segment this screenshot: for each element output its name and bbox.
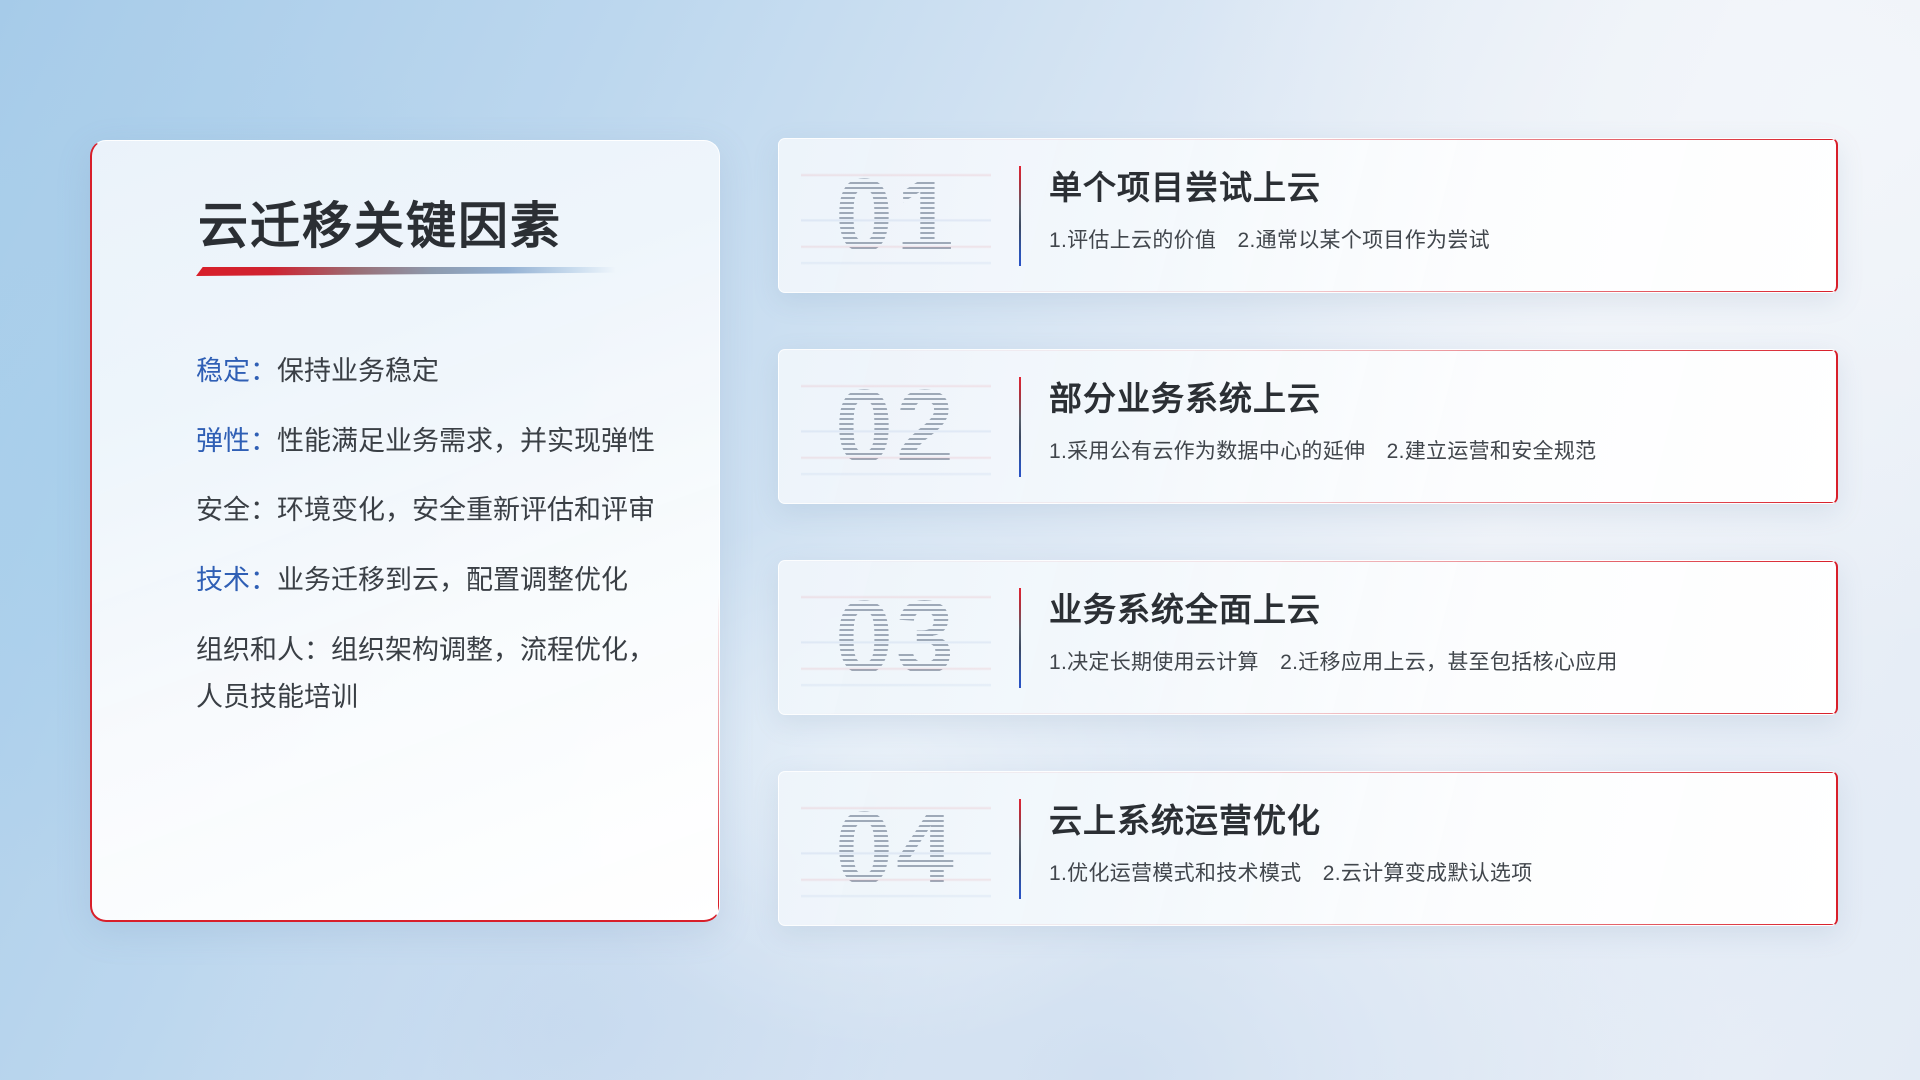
card-divider-line bbox=[1019, 799, 1021, 899]
factor-line: 技术：业务迁移到云，配置调整优化 bbox=[196, 562, 679, 599]
factor-text-continuation: 人员技能培训 bbox=[196, 679, 679, 716]
stage-number: 03 bbox=[801, 575, 991, 701]
card-description: 1.采用公有云作为数据中心的延伸 2.建立运营和安全规范 bbox=[1049, 435, 1810, 465]
stage-number-text: 01 bbox=[835, 157, 957, 276]
factor-line: 弹性：性能满足业务需求，并实现弹性 bbox=[196, 423, 679, 460]
stage-card[interactable]: 03业务系统全面上云1.决定长期使用云计算 2.迁移应用上云，甚至包括核心应用 bbox=[778, 560, 1838, 715]
stage-card[interactable]: 02部分业务系统上云1.采用公有云作为数据中心的延伸 2.建立运营和安全规范 bbox=[778, 349, 1838, 504]
card-divider-line bbox=[1019, 166, 1021, 266]
card-divider-line bbox=[1019, 588, 1021, 688]
factor-key: 弹性： bbox=[196, 426, 277, 456]
factor-text: 业务迁移到云，配置调整优化 bbox=[277, 565, 628, 595]
stage-number-text: 03 bbox=[835, 579, 957, 698]
page-title: 云迁移关键因素 bbox=[198, 186, 562, 258]
factor-text: 保持业务稳定 bbox=[277, 356, 439, 386]
card-body: 业务系统全面上云1.决定长期使用云计算 2.迁移应用上云，甚至包括核心应用 bbox=[1049, 583, 1810, 676]
factor-key: 安全： bbox=[196, 495, 277, 525]
factor-text: 性能满足业务需求，并实现弹性 bbox=[277, 426, 655, 456]
factor-key: 组织和人： bbox=[196, 635, 331, 665]
stage-card[interactable]: 04云上系统运营优化1.优化运营模式和技术模式 2.云计算变成默认选项 bbox=[778, 771, 1838, 926]
card-title: 单个项目尝试上云 bbox=[1049, 161, 1810, 209]
factor-key: 技术： bbox=[196, 565, 277, 595]
migration-stage-cards: 01单个项目尝试上云1.评估上云的价值 2.通常以某个项目作为尝试02部分业务系… bbox=[778, 138, 1838, 982]
card-title: 部分业务系统上云 bbox=[1049, 372, 1810, 420]
stage-card[interactable]: 01单个项目尝试上云1.评估上云的价值 2.通常以某个项目作为尝试 bbox=[778, 138, 1838, 293]
card-title: 业务系统全面上云 bbox=[1049, 583, 1810, 631]
factor-key: 稳定： bbox=[196, 356, 277, 386]
card-description: 1.优化运营模式和技术模式 2.云计算变成默认选项 bbox=[1049, 857, 1810, 887]
stage-number-text: 02 bbox=[835, 368, 957, 487]
card-body: 云上系统运营优化1.优化运营模式和技术模式 2.云计算变成默认选项 bbox=[1049, 794, 1810, 887]
factor-text: 环境变化，安全重新评估和评审 bbox=[277, 495, 655, 525]
card-description: 1.评估上云的价值 2.通常以某个项目作为尝试 bbox=[1049, 224, 1810, 254]
card-description: 1.决定长期使用云计算 2.迁移应用上云，甚至包括核心应用 bbox=[1049, 646, 1810, 676]
stage-number: 02 bbox=[801, 364, 991, 490]
key-factors-panel: 云迁移关键因素 稳定：保持业务稳定弹性：性能满足业务需求，并实现弹性安全：环境变… bbox=[90, 140, 720, 922]
card-title: 云上系统运营优化 bbox=[1049, 794, 1810, 842]
card-body: 单个项目尝试上云1.评估上云的价值 2.通常以某个项目作为尝试 bbox=[1049, 161, 1810, 254]
stage-number-text: 04 bbox=[835, 790, 957, 909]
card-divider-line bbox=[1019, 377, 1021, 477]
factor-line: 安全：环境变化，安全重新评估和评审 bbox=[196, 492, 679, 529]
stage-number: 04 bbox=[801, 786, 991, 912]
factors-list: 稳定：保持业务稳定弹性：性能满足业务需求，并实现弹性安全：环境变化，安全重新评估… bbox=[196, 353, 679, 748]
factor-line: 稳定：保持业务稳定 bbox=[196, 353, 679, 390]
card-body: 部分业务系统上云1.采用公有云作为数据中心的延伸 2.建立运营和安全规范 bbox=[1049, 372, 1810, 465]
title-underline-rule bbox=[196, 267, 616, 276]
stage-number: 01 bbox=[801, 153, 991, 279]
factor-line: 组织和人：组织架构调整，流程优化， bbox=[196, 632, 679, 669]
factor-text: 组织架构调整，流程优化， bbox=[331, 635, 655, 665]
